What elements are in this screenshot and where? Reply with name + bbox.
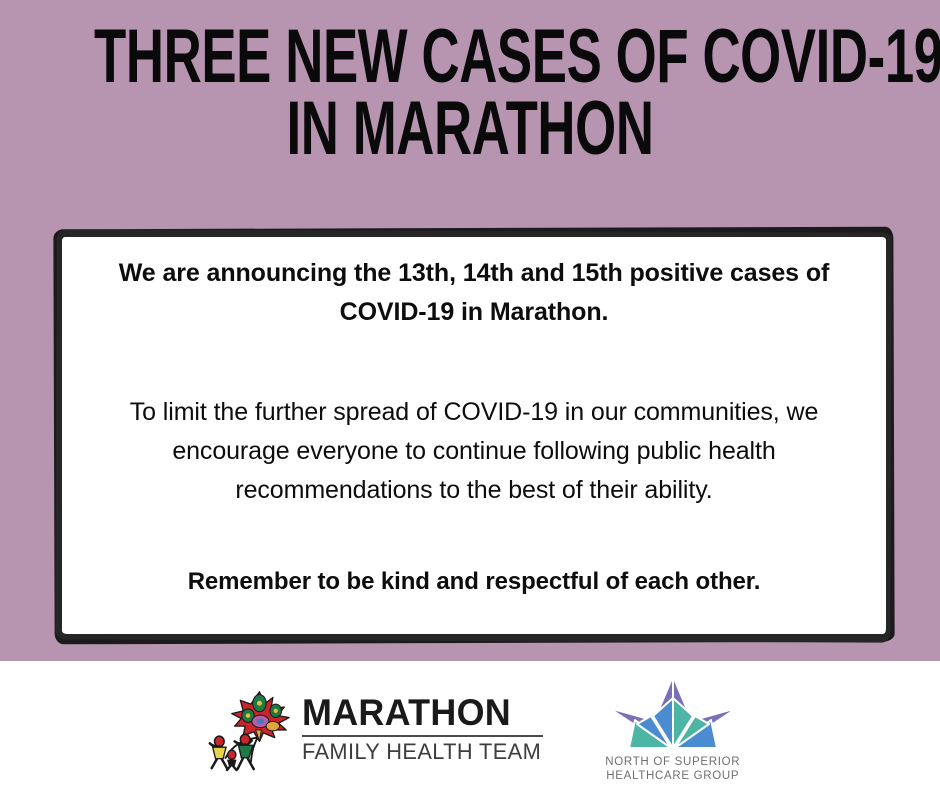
poster: THREE NEW CASES OF COVID-19 IN MARATHON … xyxy=(0,0,940,788)
logo-north-of-superior-healthcare-group: NORTH OF SUPERIOR HEALTHCARE GROUP xyxy=(605,674,740,783)
marathon-logo-divider xyxy=(302,735,544,737)
logo-marathon-family-health-team: MARATHON FAMILY HEALTH TEAM xyxy=(200,686,544,772)
marathon-logo-subtitle: FAMILY HEALTH TEAM xyxy=(302,740,541,764)
announcement-card: We are announcing the 13th, 14th and 15t… xyxy=(54,228,894,643)
announcement-body-text: To limit the further spread of COVID-19 … xyxy=(90,393,858,510)
nosh-logo-line-2: HEALTHCARE GROUP xyxy=(605,769,740,783)
five-petal-star-icon xyxy=(607,674,739,752)
page-title: THREE NEW CASES OF COVID-19 IN MARATHON xyxy=(0,14,940,158)
announcement-lead-text: We are announcing the 13th, 14th and 15t… xyxy=(90,254,858,332)
card-content: We are announcing the 13th, 14th and 15t… xyxy=(54,228,894,643)
maple-leaf-with-figures-icon xyxy=(200,686,296,772)
nosh-logo-line-1: NORTH OF SUPERIOR xyxy=(605,755,740,769)
footer-logo-bar: MARATHON FAMILY HEALTH TEAM xyxy=(0,661,940,788)
nosh-wordmark: NORTH OF SUPERIOR HEALTHCARE GROUP xyxy=(605,755,740,783)
footer-logos: MARATHON FAMILY HEALTH TEAM xyxy=(200,674,741,783)
marathon-logo-name: MARATHON xyxy=(302,694,536,732)
page-title-line-2: IN MARATHON xyxy=(94,86,846,169)
announcement-closing-text: Remember to be kind and respectful of ea… xyxy=(90,565,858,599)
marathon-wordmark: MARATHON FAMILY HEALTH TEAM xyxy=(302,694,544,764)
